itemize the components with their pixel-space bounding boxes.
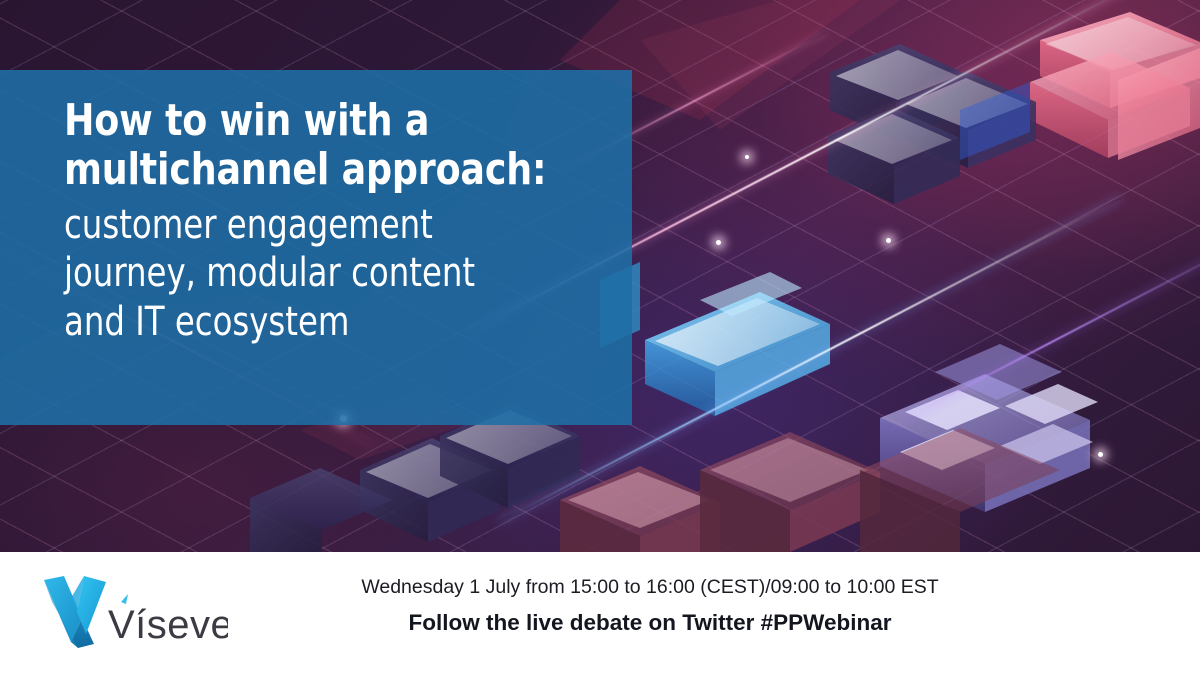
page-subtitle: customer engagement journey, modular con… [64,201,559,347]
light-spark [745,155,749,159]
light-spark [716,240,721,245]
headline-panel-content: How to win with a multichannel approach:… [64,96,614,347]
footer-text-block: Wednesday 1 July from 15:00 to 16:00 (CE… [250,572,1050,640]
headline-panel: How to win with a multichannel approach:… [0,70,632,425]
viseven-logo: Víseven [38,572,228,650]
light-spark [886,238,891,243]
footer-bar: Víseven Wednesday 1 July from 15:00 to 1… [0,552,1200,675]
hero-background-image: How to win with a multichannel approach:… [0,0,1200,552]
light-spark [1098,452,1103,457]
twitter-cta: Follow the live debate on Twitter #PPWeb… [250,606,1050,640]
viseven-wordmark: Víseven [108,603,228,647]
page-title: How to win with a multichannel approach: [64,96,570,195]
webinar-datetime: Wednesday 1 July from 15:00 to 16:00 (CE… [250,572,1050,602]
webinar-banner: How to win with a multichannel approach:… [0,0,1200,675]
